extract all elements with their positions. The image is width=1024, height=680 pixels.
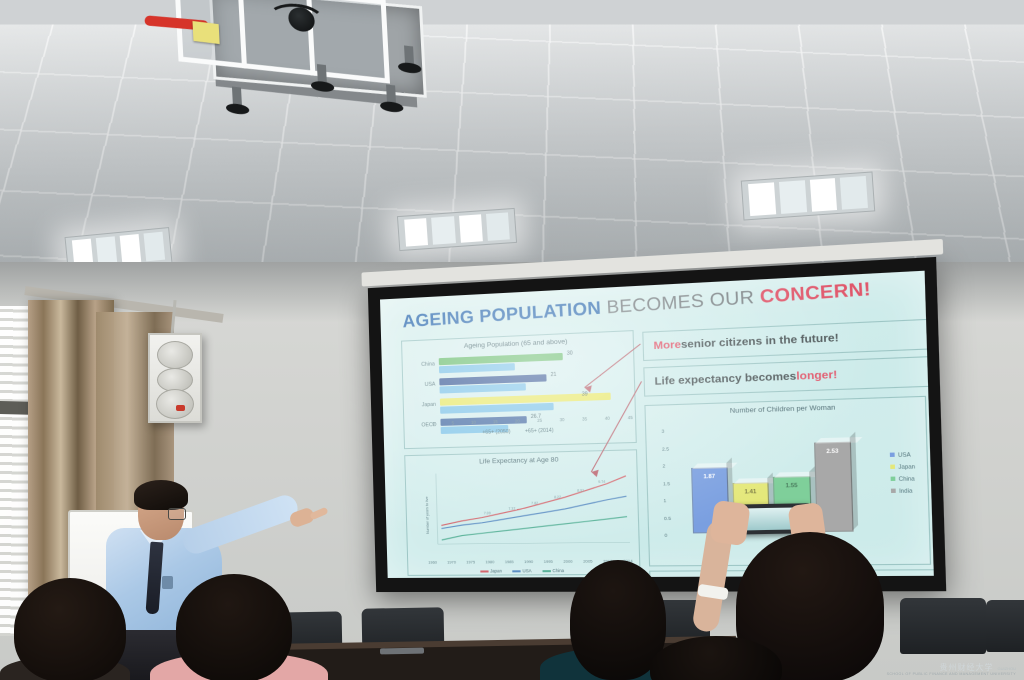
presenter-badge [162, 576, 173, 589]
projector-mount-1 [232, 87, 242, 108]
line-legend-china: China [542, 568, 564, 573]
line-legend-usa: USA [512, 568, 532, 573]
line-xtick-4: 1985 [505, 559, 514, 564]
speaker-driver-1 [157, 341, 193, 369]
audience-head-1 [14, 578, 126, 680]
col-ytick-3: 1.5 [663, 481, 670, 486]
svg-text:7.82: 7.82 [531, 501, 538, 505]
title-part-gray: BECOMES OUR [606, 286, 755, 317]
col-legend-india: India [891, 486, 916, 498]
bar-label-usa: USA [409, 382, 435, 389]
column-chart-legend: USA Japan China India [890, 450, 916, 499]
svg-text:8.91: 8.91 [577, 488, 584, 492]
callout-1-highlight: More [653, 338, 681, 352]
watermark-main-text: 贵州财经大学 [940, 663, 994, 672]
speaker-led-icon [176, 405, 185, 411]
presenter-hair [134, 480, 188, 510]
projector-mount-4 [404, 45, 414, 66]
col-ytick-6: 0 [664, 533, 671, 538]
bar-value-usa: 21 [551, 372, 557, 378]
svg-text:7.37: 7.37 [508, 507, 515, 511]
line-chart-plot: 7.09 7.37 7.82 8.22 8.91 9.74 [422, 467, 633, 554]
callout-1-rest: senior citizens in the future! [681, 332, 839, 352]
callout-more-senior-citizens: More senior citizens in the future! [642, 319, 934, 362]
col-ytick-5: 0.5 [664, 515, 671, 520]
projection-screen: AGEING POPULATION BECOMES OUR CONCERN! A… [368, 257, 946, 592]
svg-text:7.09: 7.09 [484, 511, 491, 515]
svg-text:9.74: 9.74 [598, 480, 605, 484]
col-ytick-2: 2 [662, 463, 669, 468]
speaker-driver-3 [156, 389, 194, 419]
bar-label-japan: Japan [410, 402, 436, 409]
svg-text:8.22: 8.22 [554, 495, 561, 499]
line-xtick-8: 2005 [583, 558, 592, 563]
column-value-japan: 1.41 [733, 489, 767, 496]
title-part-red: CONCERN! [759, 278, 871, 307]
bar-label-china: China [409, 361, 435, 368]
line-xtick-6: 1995 [544, 559, 553, 564]
col-legend-china: China [890, 474, 915, 487]
bar-xtick-3: 15 [493, 419, 498, 424]
watermark-main-row: 贵州财经大学 GUIZHOU [887, 663, 1016, 672]
col-ytick-4: 1 [663, 498, 670, 503]
classroom-photo: AGEING POPULATION BECOMES OUR CONCERN! A… [0, 0, 1024, 680]
line-xtick-0: 1960 [428, 560, 437, 565]
col-legend-usa: USA [890, 450, 915, 463]
laptop-on-table [380, 648, 424, 655]
audience-head-2 [176, 574, 292, 680]
photographer-left-hand [709, 500, 750, 547]
line-xtick-1: 1970 [447, 559, 456, 564]
callout-2-highlight: longer! [796, 368, 837, 382]
line-xtick-7: 2000 [563, 559, 572, 564]
bar-xtick-0: 0 [432, 421, 435, 426]
callout-life-expectancy: Life expectancy becomes longer! [643, 356, 934, 397]
bar-legend-2050: +65+ (2050) [482, 429, 510, 436]
bar-value-china: 30 [567, 350, 573, 356]
line-xtick-2: 1975 [466, 559, 475, 564]
presentation-slide: AGEING POPULATION BECOMES OUR CONCERN! A… [380, 271, 934, 578]
column-value-china: 1.55 [774, 483, 809, 490]
column-chart-yticks: 3 2.5 2 1.5 1 0.5 0 [661, 428, 671, 538]
bar-chart-panel: Ageing Population (65 and above) China 3… [401, 330, 637, 449]
col-ytick-1: 2.5 [662, 446, 669, 451]
projector-mount-2 [317, 64, 327, 85]
ceiling-projector-cage [165, 0, 421, 114]
line-xtick-3: 1980 [485, 559, 494, 564]
line-xtick-5: 1990 [524, 559, 533, 564]
line-chart-panel: Life Expectancy at Age 80 Number of year… [404, 449, 640, 576]
bar-xtick-9: 45 [628, 415, 633, 420]
chair-5 [986, 600, 1024, 652]
bar-xtick-1: 5 [452, 420, 455, 425]
chair-4 [900, 598, 986, 654]
bar-xtick-8: 40 [605, 416, 610, 421]
bar-xtick-6: 30 [559, 417, 564, 422]
bar-xtick-5: 25 [537, 418, 542, 423]
col-ytick-0: 3 [661, 428, 668, 433]
line-chart-svg: 7.09 7.37 7.82 8.22 8.91 9.74 [422, 467, 633, 554]
line-chart-title: Life Expectancy at Age 80 [405, 455, 636, 468]
callout-2-rest: Life expectancy becomes [654, 370, 796, 388]
col-legend-japan: Japan [890, 462, 915, 475]
column-chart-title: Number of Children per Woman [646, 401, 926, 417]
title-part-blue: AGEING POPULATION [402, 297, 602, 331]
presenter-arm [180, 492, 302, 557]
bar-value-japan: 39 [582, 391, 588, 397]
bar-xtick-4: 20 [515, 418, 520, 423]
presenter-glasses-icon [168, 508, 186, 520]
column-value-india: 2.53 [815, 449, 850, 456]
bar-legend-2014: +65+ (2014) [525, 428, 554, 435]
watermark-sub-text: SCHOOL OF PUBLIC FINANCE AND MANAGEMENT … [887, 672, 1016, 676]
column-value-usa: 1.87 [692, 474, 726, 481]
line-legend-japan: Japan [480, 568, 502, 573]
bar-xtick-7: 35 [582, 416, 587, 421]
watermark: 贵州财经大学 GUIZHOU SCHOOL OF PUBLIC FINANCE … [887, 663, 1016, 676]
yellow-tag [192, 21, 219, 44]
projector-mount-3 [386, 84, 396, 105]
bar-xtick-2: 10 [471, 420, 476, 425]
wall-speaker [148, 333, 202, 423]
